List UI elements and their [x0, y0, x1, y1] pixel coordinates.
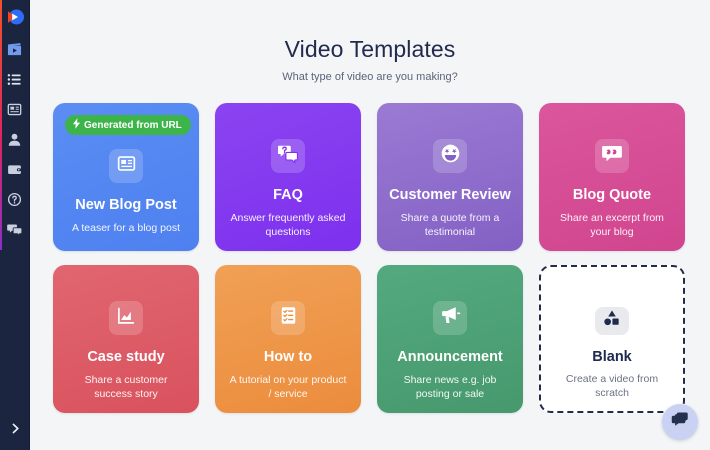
template-card-customer-review[interactable]: Customer Review Share a quote from a tes… [377, 103, 523, 251]
chat-bubbles-icon [671, 410, 690, 434]
checklist-icon [279, 306, 298, 330]
card-title: FAQ [273, 187, 303, 204]
chevron-right-icon [9, 422, 22, 440]
smiling-face-icon [440, 143, 461, 169]
expand-sidebar-button[interactable] [0, 418, 30, 444]
chat-bubbles-icon [7, 222, 22, 237]
question-chat-icon [278, 144, 298, 169]
card-description: Create a video from scratch [553, 373, 671, 401]
sidebar-item-help[interactable] [0, 184, 30, 214]
sidebar-item-list[interactable] [0, 64, 30, 94]
template-grid: Generated from URL New Blog Post A [53, 103, 687, 413]
app-root: Video Templates What type of video are y… [0, 0, 710, 450]
card-icon [109, 301, 143, 335]
sidebar-item-media[interactable] [0, 94, 30, 124]
card-title: Blank [592, 349, 632, 366]
app-logo[interactable] [3, 5, 27, 29]
card-title: Blog Quote [573, 187, 651, 204]
card-description: Share news e.g. job posting or sale [389, 374, 511, 402]
main-content: Video Templates What type of video are y… [30, 0, 710, 450]
card-title: Case study [87, 349, 164, 366]
card-icon [271, 301, 305, 335]
template-card-new-blog-post[interactable]: Generated from URL New Blog Post A [53, 103, 199, 251]
template-card-how-to[interactable]: How to A tutorial on your product / serv… [215, 265, 361, 413]
card-title: How to [264, 349, 312, 366]
card-icon [433, 301, 467, 335]
card-icon [271, 139, 305, 173]
template-card-blog-quote[interactable]: Blog Quote Share an excerpt from your bl… [539, 103, 685, 251]
card-icon [595, 139, 629, 173]
template-card-faq[interactable]: FAQ Answer frequently asked questions [215, 103, 361, 251]
card-description: Share an excerpt from your blog [551, 212, 673, 240]
chat-widget-button[interactable] [662, 404, 698, 440]
page-header: Video Templates What type of video are y… [30, 0, 710, 83]
badge-label: Generated from URL [84, 120, 182, 131]
status-badge: Generated from URL [65, 115, 191, 135]
card-icon [595, 307, 629, 335]
area-chart-icon [116, 306, 136, 331]
card-icon [433, 139, 467, 173]
card-title: Customer Review [389, 187, 511, 204]
newspaper-icon [117, 154, 136, 178]
megaphone-icon [440, 305, 461, 331]
template-card-case-study[interactable]: Case study Share a customer success stor… [53, 265, 199, 413]
card-title: New Blog Post [75, 197, 177, 214]
page-title: Video Templates [30, 36, 710, 63]
card-description: Answer frequently asked questions [227, 212, 349, 240]
card-description: Share a customer success story [65, 374, 187, 402]
sidebar-item-chat[interactable] [0, 214, 30, 244]
list-icon [7, 72, 22, 87]
card-description: A teaser for a blog post [72, 222, 180, 236]
template-card-blank[interactable]: Blank Create a video from scratch [539, 265, 685, 413]
card-description: A tutorial on your product / service [227, 374, 349, 402]
sidebar-item-projects[interactable] [0, 34, 30, 64]
page-subtitle: What type of video are you making? [30, 71, 710, 83]
card-title: Announcement [397, 349, 503, 366]
wallet-icon [7, 162, 22, 177]
quote-bubble-icon [602, 144, 622, 169]
lightning-bolt-icon [72, 118, 81, 132]
card-description: Share a quote from a testimonial [389, 212, 511, 240]
template-card-announcement[interactable]: Announcement Share news e.g. job posting… [377, 265, 523, 413]
left-sidebar [0, 0, 30, 450]
person-icon [7, 132, 22, 147]
card-icon [109, 149, 143, 183]
newspaper-icon [7, 102, 22, 117]
sidebar-item-billing[interactable] [0, 154, 30, 184]
sidebar-item-account[interactable] [0, 124, 30, 154]
question-circle-icon [7, 192, 22, 207]
shapes-icon [602, 308, 622, 333]
clapperboard-icon [7, 42, 22, 57]
